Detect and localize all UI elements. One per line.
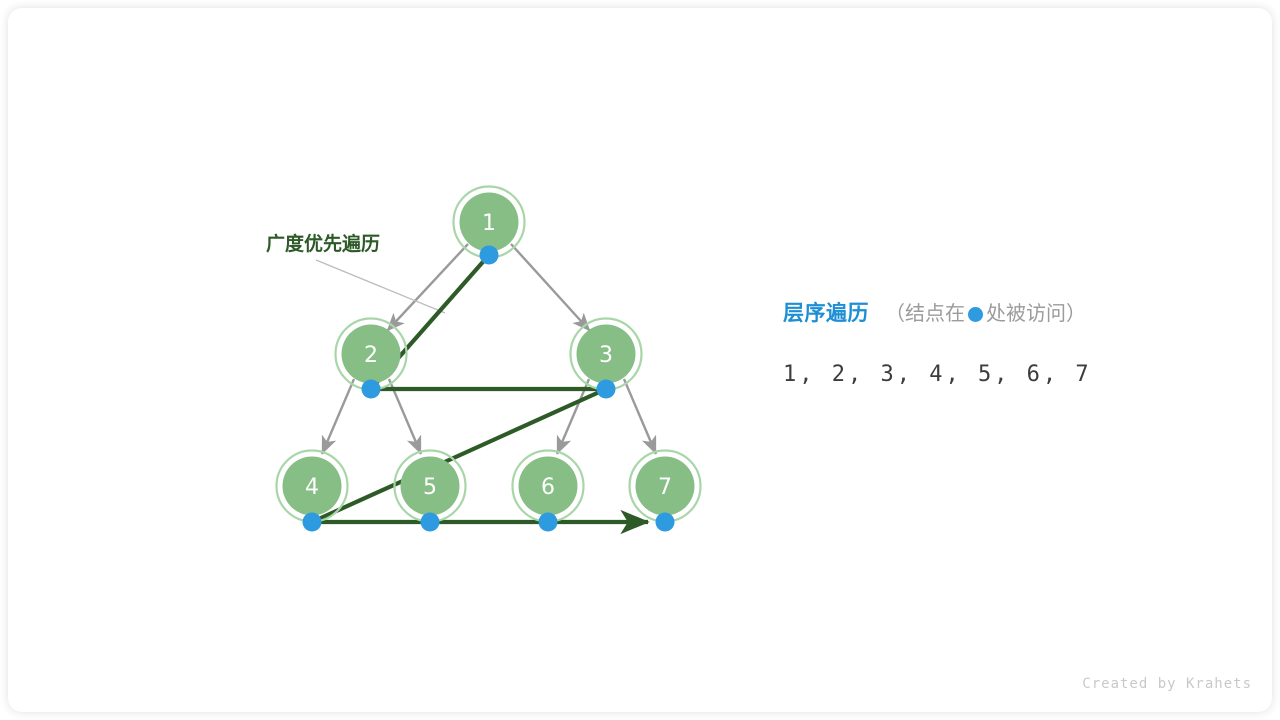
traversal-note: （结点在 处被访问） [885,303,1086,323]
tree-edge-1-3 [511,244,590,331]
traversal-note-suffix: 处被访问） [986,303,1086,323]
node-label: 2 [364,343,378,368]
node-label: 1 [482,211,496,236]
visit-dot-icon [968,307,983,322]
traversal-note-prefix: （结点在 [885,303,965,323]
traversal-sequence: 1, 2, 3, 4, 5, 6, 7 [783,362,1213,387]
visit-dot-node-6[interactable] [539,513,558,532]
bfs-label: 广度优先遍历 [266,232,380,255]
traversal-title-row: 层序遍历 （结点在 处被访问） [783,303,1213,324]
node-label: 5 [423,475,437,500]
node-label: 6 [541,475,555,500]
tree-edge-1-2 [387,244,468,331]
diagram-stage: 广度优先遍历 1 2 [8,8,1272,712]
diagram-card: 广度优先遍历 1 2 [8,8,1272,712]
tree-node-5[interactable]: 5 [395,451,466,522]
node-label: 3 [599,343,613,368]
traversal-title: 层序遍历 [783,303,869,324]
visit-dot-node-7[interactable] [656,513,675,532]
tree-node-2[interactable]: 2 [336,319,407,390]
visit-dot-node-1[interactable] [480,246,499,265]
visit-dot-node-4[interactable] [303,513,322,532]
tree-node-3[interactable]: 3 [571,319,642,390]
node-label: 4 [305,475,319,500]
tree-edge-3-7 [624,379,656,454]
annotation-leader-line [316,260,445,313]
tree-edge-2-4 [322,379,354,454]
visit-dot-node-3[interactable] [597,380,616,399]
tree-node-7[interactable]: 7 [630,451,701,522]
node-label: 7 [658,475,672,500]
tree-node-6[interactable]: 6 [513,451,584,522]
footer-credit: Created by Krahets [1082,676,1252,692]
visit-dot-node-5[interactable] [421,513,440,532]
traversal-info-panel: 层序遍历 （结点在 处被访问） 1, 2, 3, 4, 5, 6, 7 [783,303,1213,387]
visit-dot-node-2[interactable] [362,380,381,399]
tree-node-4[interactable]: 4 [277,451,348,522]
